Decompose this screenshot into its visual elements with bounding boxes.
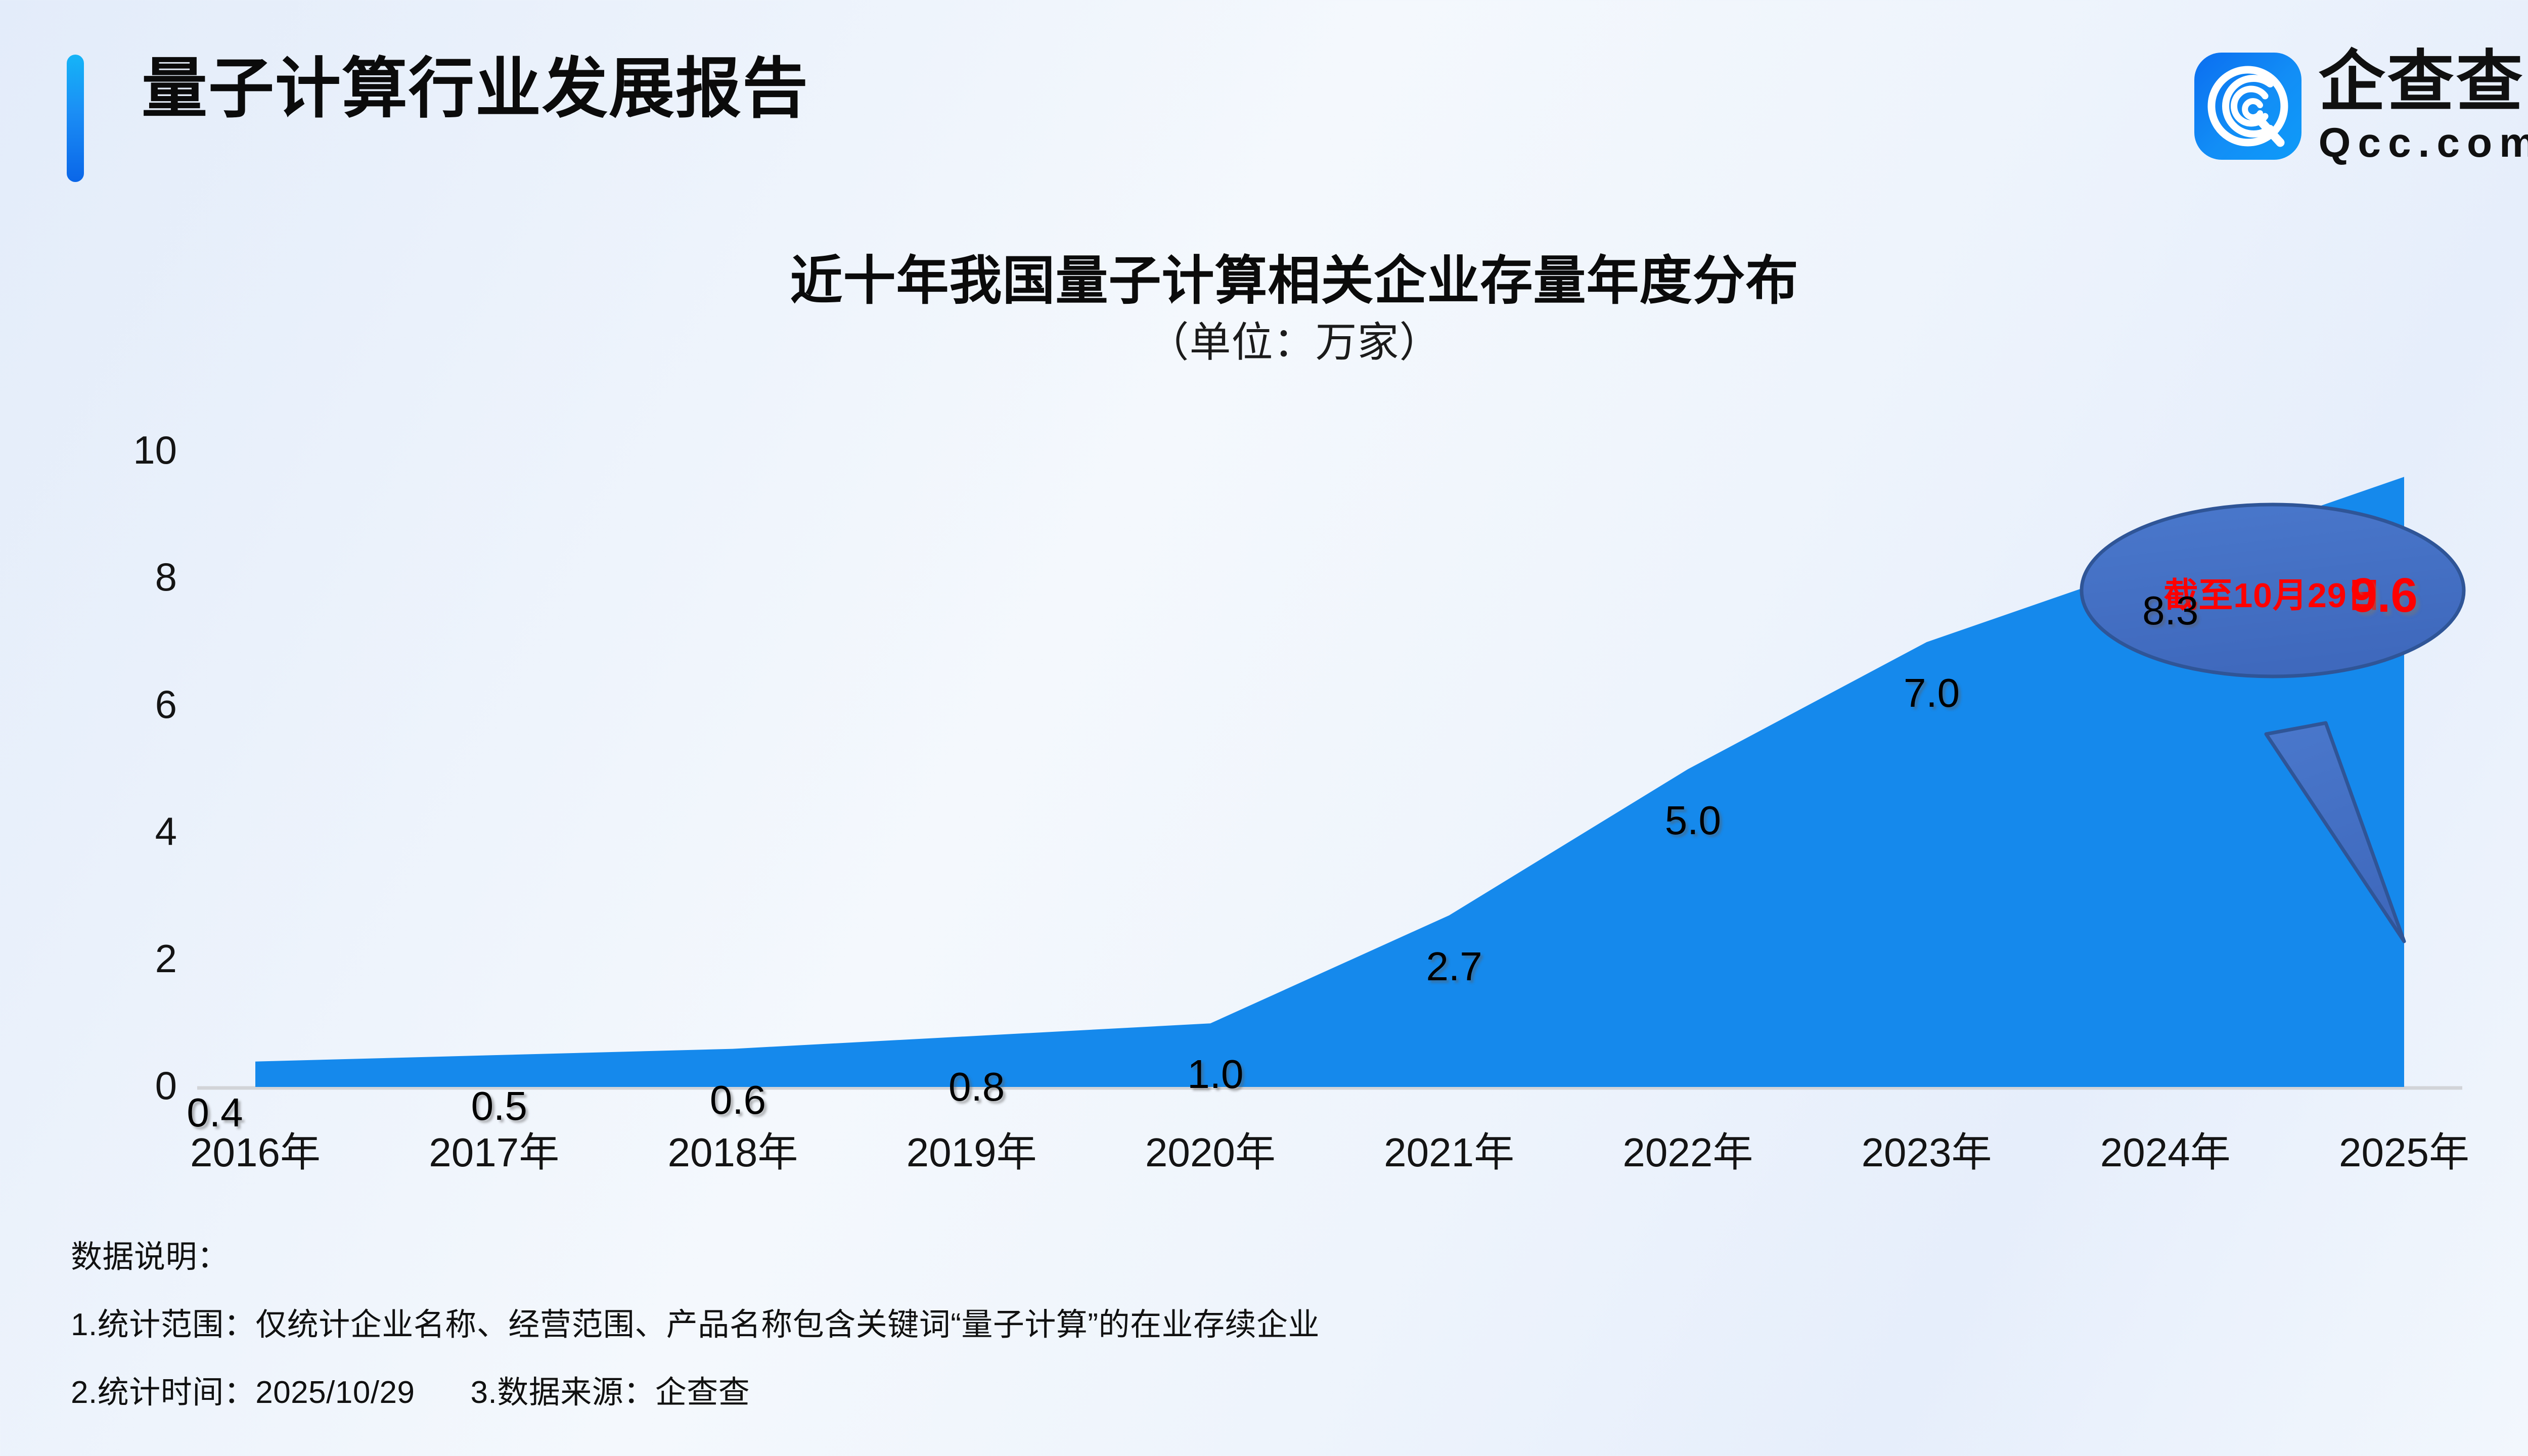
x-tick-2018年: 2018年 xyxy=(637,1120,829,1178)
title-accent-bar xyxy=(67,55,84,182)
page-header: 量子计算行业发展报告 企查查 Qcc.com xyxy=(0,0,2528,202)
note-time: 2.统计时间：2025/10/29 xyxy=(71,1367,415,1412)
notes-heading: 数据说明： xyxy=(71,1231,2397,1277)
brand-name-cn: 企查查 xyxy=(2319,49,2525,115)
note-source: 3.数据来源：企查查 xyxy=(471,1367,750,1412)
data-label-2016年: 0.4 xyxy=(149,1089,281,1136)
chart-subtitle: （单位：万家） xyxy=(0,308,2528,369)
footer-notes: 数据说明： 1.统计范围：仅统计企业名称、经营范围、产品名称包含关键词“量子计算… xyxy=(71,1231,2397,1434)
y-tick-10: 10 xyxy=(96,427,177,473)
x-tick-2023年: 2023年 xyxy=(1831,1120,2023,1178)
y-tick-8: 8 xyxy=(96,554,177,600)
brand-name-en: Qcc.com xyxy=(2319,122,2528,164)
chart-title: 近十年我国量子计算相关企业存量年度分布 xyxy=(0,238,2528,314)
data-label-2021年: 2.7 xyxy=(1388,943,1520,990)
note-scope: 1.统计范围：仅统计企业名称、经营范围、产品名称包含关键词“量子计算”的在业存续… xyxy=(71,1299,2397,1344)
data-label-2020年: 1.0 xyxy=(1150,1051,1281,1098)
x-tick-2024年: 2024年 xyxy=(2069,1120,2262,1178)
page-title: 量子计算行业发展报告 xyxy=(142,56,809,121)
x-tick-2022年: 2022年 xyxy=(1592,1120,1784,1178)
y-tick-6: 6 xyxy=(96,681,177,727)
x-tick-2019年: 2019年 xyxy=(876,1120,1068,1178)
y-tick-2: 2 xyxy=(96,936,177,982)
brand-text: 企查查 Qcc.com xyxy=(2319,49,2528,164)
data-label-2022年: 5.0 xyxy=(1627,797,1758,844)
qcc-logo-icon xyxy=(2194,53,2301,160)
data-label-2023年: 7.0 xyxy=(1866,670,1998,716)
x-tick-2020年: 2020年 xyxy=(1114,1120,1306,1178)
brand-logo: 企查查 Qcc.com xyxy=(2194,49,2528,164)
data-label-2017年: 0.5 xyxy=(433,1083,565,1129)
data-label-2018年: 0.6 xyxy=(672,1077,803,1123)
x-tick-2025年: 2025年 xyxy=(2308,1120,2500,1178)
data-label-2019年: 0.8 xyxy=(911,1064,1043,1110)
x-tick-2021年: 2021年 xyxy=(1353,1120,1545,1178)
y-tick-4: 4 xyxy=(96,808,177,854)
data-label-2025年: 9.6 xyxy=(2318,568,2450,623)
data-label-2024年: 8.3 xyxy=(2105,587,2236,634)
